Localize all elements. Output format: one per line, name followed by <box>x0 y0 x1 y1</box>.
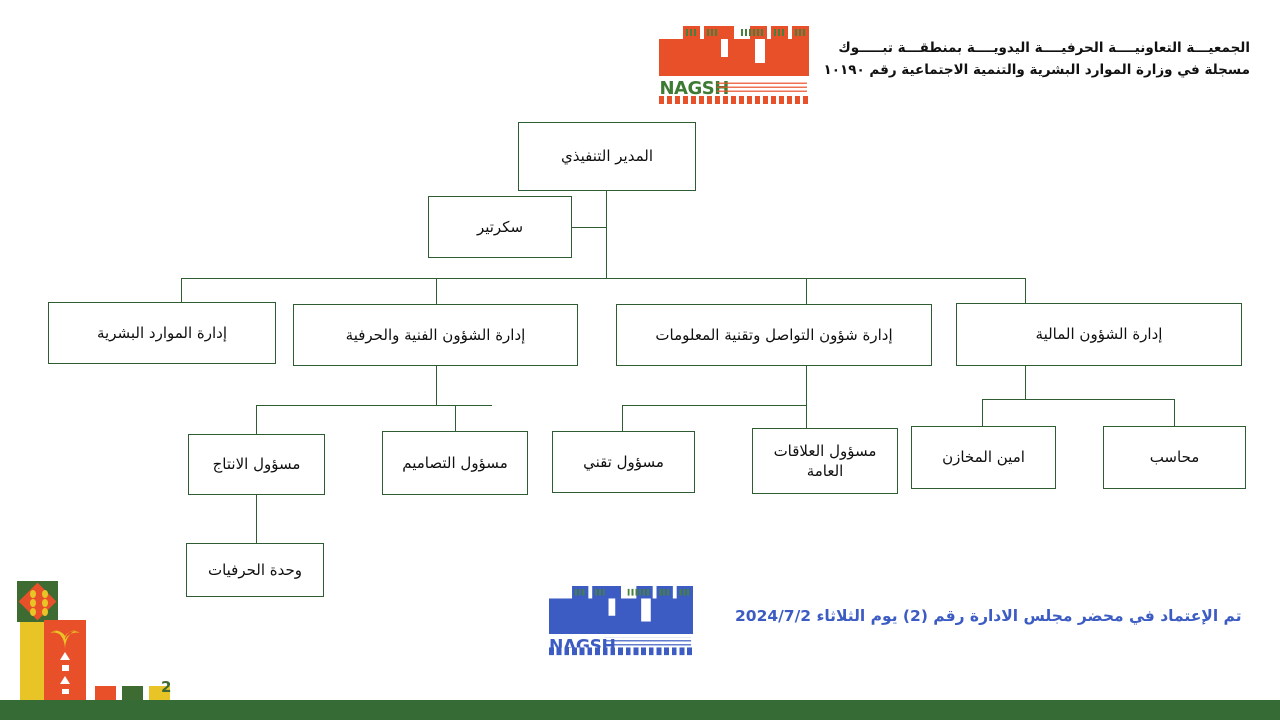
palm-tree-icon <box>48 624 82 654</box>
connector-drop-technical <box>436 278 437 304</box>
logo-merlon-gap <box>625 586 633 598</box>
node-label: مسؤول الانتاج <box>213 454 301 474</box>
connector-bus-finance <box>982 399 1175 400</box>
node-label: إدارة الشؤون المالية <box>1036 324 1163 344</box>
logo-merlon <box>677 586 693 598</box>
logo-merlon-row <box>549 586 693 598</box>
connector-bus-level2 <box>181 278 1026 279</box>
node-label: إدارة شؤون التواصل وتقنية المعلومات <box>655 325 892 345</box>
node-label: مسؤول التصاميم <box>402 453 507 473</box>
node-label: امين المخازن <box>942 447 1025 467</box>
approval-note: تم الإعتماد في محضر مجلس الادارة رقم (2)… <box>735 607 1242 625</box>
connector-production-crafts <box>256 495 257 543</box>
connector-drop-designs <box>455 405 456 431</box>
node-secretary[interactable]: سكرتير <box>428 196 572 258</box>
connector-drop-production <box>256 405 257 434</box>
node-comms-department[interactable]: إدارة شؤون التواصل وتقنية المعلومات <box>616 304 932 366</box>
node-label: مسؤول تقني <box>583 452 664 472</box>
logo-merlon <box>636 586 652 598</box>
connector-drop-pr <box>806 405 807 428</box>
node-pr-officer[interactable]: مسؤول العلاقات العامة <box>752 428 898 494</box>
logo-notch <box>609 598 616 615</box>
logo-notch <box>641 598 651 621</box>
connector-finance-down <box>1025 365 1026 399</box>
connector-drop-it <box>622 405 623 431</box>
node-production-officer[interactable]: مسؤول الانتاج <box>188 434 325 495</box>
node-label: محاسب <box>1150 447 1200 467</box>
connector-drop-hr <box>181 278 182 302</box>
node-label: سكرتير <box>477 217 523 237</box>
logo-merlon <box>657 586 673 598</box>
connector-drop-warehouse <box>982 399 983 426</box>
connector-drop-accountant <box>1174 399 1175 426</box>
page-number: 2 <box>161 678 171 696</box>
connector-technical-down <box>436 365 437 405</box>
decorative-graphics <box>0 560 360 720</box>
node-warehouse-keeper[interactable]: امين المخازن <box>911 426 1056 489</box>
node-technical-department[interactable]: إدارة الشؤون الفنية والحرفية <box>293 304 578 366</box>
logo-merlon <box>572 586 588 598</box>
node-it-officer[interactable]: مسؤول تقني <box>552 431 695 493</box>
palm-trunk-marks <box>60 652 70 694</box>
node-designs-officer[interactable]: مسؤول التصاميم <box>382 431 528 495</box>
connector-bus-comms <box>622 405 807 406</box>
connector-secretary <box>571 227 607 228</box>
logo-merlon-wide <box>592 586 621 598</box>
logo-footer-pattern <box>549 647 693 655</box>
node-label: المدير التنفيذي <box>561 146 653 166</box>
connector-drop-comms <box>806 278 807 304</box>
logo-band <box>549 598 693 634</box>
node-ceo[interactable]: المدير التنفيذي <box>518 122 696 191</box>
bottom-green-bar <box>0 700 1280 720</box>
node-label: مسؤول العلاقات العامة <box>759 441 891 482</box>
connector-drop-finance <box>1025 278 1026 303</box>
node-hr-department[interactable]: إدارة الموارد البشرية <box>48 302 276 364</box>
connector-bus-technical <box>256 405 492 406</box>
nagsh-logo-bottom: NAGSH <box>549 586 693 655</box>
node-finance-department[interactable]: إدارة الشؤون المالية <box>956 303 1242 366</box>
diamond-dots <box>26 590 49 615</box>
node-label: إدارة الموارد البشرية <box>97 323 227 343</box>
node-accountant[interactable]: محاسب <box>1103 426 1246 489</box>
connector-comms-down <box>806 365 807 405</box>
connector-ceo-down <box>606 191 607 278</box>
node-label: إدارة الشؤون الفنية والحرفية <box>346 325 526 345</box>
